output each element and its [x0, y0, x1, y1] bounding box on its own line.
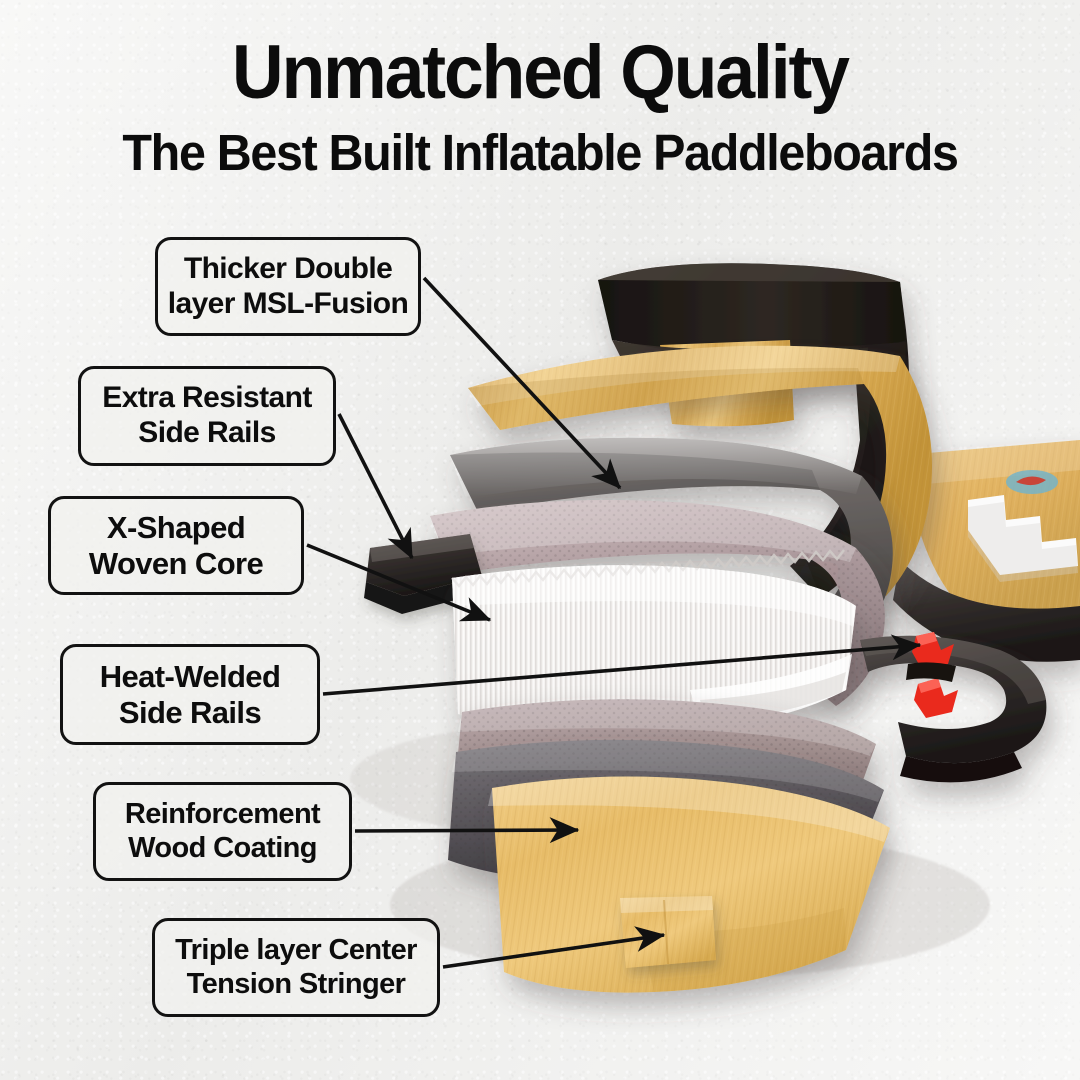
- callout-line-2: layer MSL-Fusion: [168, 287, 408, 322]
- callout-line-1: Heat-Welded: [100, 659, 281, 695]
- callout-thicker-double-layer-msl-fusion[interactable]: Thicker Double layer MSL-Fusion: [155, 237, 421, 336]
- red-weld-seam: [906, 632, 958, 718]
- woven-drop-stitch-core: [452, 550, 856, 731]
- callout-line-2: Side Rails: [119, 695, 261, 731]
- mauve-laminate-upper: [430, 500, 885, 706]
- page-title: Unmatched Quality: [32, 0, 1047, 112]
- infographic-canvas: Unmatched Quality The Best Built Inflata…: [0, 0, 1080, 1080]
- callout-line-2: Wood Coating: [128, 832, 317, 866]
- center-stringer-tab: [620, 896, 716, 968]
- dark-side-rail-edge: [364, 534, 486, 614]
- callout-reinforcement-wood-coating[interactable]: Reinforcement Wood Coating: [93, 782, 352, 881]
- mauve-laminate-lower: [452, 699, 876, 836]
- leader-line-thicker-double-layer-msl-fusion: [424, 278, 620, 488]
- callout-line-1: Reinforcement: [125, 798, 320, 832]
- leader-line-reinforcement-wood-coating: [355, 830, 578, 831]
- heat-welded-rail-wrap: [860, 636, 1046, 783]
- ground-shadow: [390, 831, 990, 979]
- upper-wood-coating-layer: [468, 346, 932, 596]
- callout-line-2: Woven Core: [89, 546, 263, 582]
- callout-x-shaped-woven-core[interactable]: X-Shaped Woven Core: [48, 496, 304, 595]
- leader-line-triple-layer-center-tension-stringer: [443, 935, 664, 967]
- leader-line-extra-resistant-side-rails: [339, 414, 412, 558]
- callout-line-1: X-Shaped: [107, 510, 245, 546]
- header-block: Unmatched Quality The Best Built Inflata…: [0, 0, 1080, 179]
- callout-extra-resistant-side-rails[interactable]: Extra Resistant Side Rails: [78, 366, 336, 466]
- callout-heat-welded-side-rails[interactable]: Heat-Welded Side Rails: [60, 644, 320, 745]
- callout-line-1: Extra Resistant: [102, 381, 311, 416]
- msl-fusion-top-layer: [598, 263, 909, 598]
- grey-side-rail-layer: [450, 438, 893, 654]
- callout-line-2: Side Rails: [138, 416, 275, 451]
- callout-line-2: Tension Stringer: [187, 968, 406, 1002]
- callout-triple-layer-center-tension-stringer[interactable]: Triple layer Center Tension Stringer: [152, 918, 440, 1017]
- dark-grey-laminate: [448, 740, 884, 883]
- leader-line-heat-welded-side-rails: [323, 645, 920, 694]
- lower-wood-coating-layer: [488, 776, 890, 992]
- traction-pad: [968, 495, 1078, 575]
- callout-line-1: Thicker Double: [184, 252, 392, 287]
- callout-line-1: Triple layer Center: [175, 934, 417, 968]
- leader-line-x-shaped-woven-core: [307, 545, 490, 620]
- finished-board-deck: [893, 440, 1080, 662]
- page-subtitle: The Best Built Inflatable Paddleboards: [27, 112, 1053, 180]
